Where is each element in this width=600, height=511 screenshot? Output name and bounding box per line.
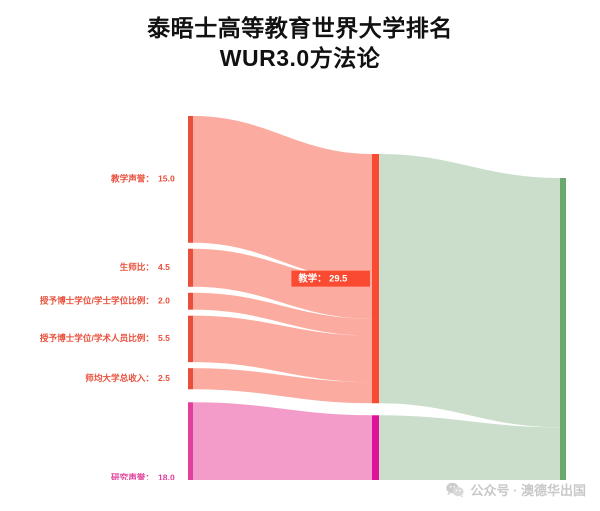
source-node-bar	[188, 249, 193, 287]
source-node-bar	[188, 293, 193, 310]
source-to-pillar-flows	[193, 116, 372, 480]
total-node-bar	[560, 178, 566, 480]
sankey-diagram: 教学声誉：15.0生师比：4.5授予博士学位/学士学位比例：2.0授予博士学位/…	[0, 100, 600, 480]
source-node-bar	[188, 116, 193, 243]
total-node-bar	[560, 178, 566, 480]
source-node-bar	[188, 402, 193, 480]
source-value: 2.0	[158, 295, 170, 305]
source-node-bar	[188, 368, 193, 389]
source-label: 研究声誉：	[111, 472, 154, 480]
page-title: 泰晤士高等教育世界大学排名 WUR3.0方法论	[0, 0, 600, 74]
title-line-1: 泰晤士高等教育世界大学排名	[0, 14, 600, 44]
source-label: 授予博士学位/学术人员比例：	[40, 332, 154, 343]
pillar-to-total-flows	[379, 154, 560, 480]
pillar-node-bars	[372, 154, 379, 480]
pillar-node-bar	[372, 154, 379, 403]
source-value: 18.0	[158, 473, 175, 480]
sankey-svg: 教学声誉：15.0生师比：4.5授予博士学位/学士学位比例：2.0授予博士学位/…	[0, 100, 600, 480]
title-line-2: WUR3.0方法论	[0, 44, 600, 74]
source-node-bars	[188, 116, 193, 480]
source-value: 15.0	[158, 174, 175, 184]
source-labels: 教学声誉：15.0生师比：4.5授予博士学位/学士学位比例：2.0授予博士学位/…	[40, 173, 175, 480]
source-value: 4.5	[158, 262, 170, 272]
pillar-node-bar	[372, 415, 379, 480]
watermark-text: 公众号 · 澳德华出国	[470, 480, 586, 499]
wechat-icon	[446, 482, 464, 498]
source-label: 授予博士学位/学士学位比例：	[40, 294, 154, 305]
source-node-bar	[188, 316, 193, 362]
pillar-label: 教学： 29.5	[297, 273, 347, 284]
source-label: 教学声誉：	[111, 173, 154, 184]
source-label: 师均大学总收入：	[85, 372, 154, 383]
source-label: 生师比：	[120, 261, 154, 272]
watermark: 公众号 · 澳德华出国	[446, 480, 586, 499]
source-value: 2.5	[158, 373, 170, 383]
source-value: 5.5	[158, 333, 170, 343]
